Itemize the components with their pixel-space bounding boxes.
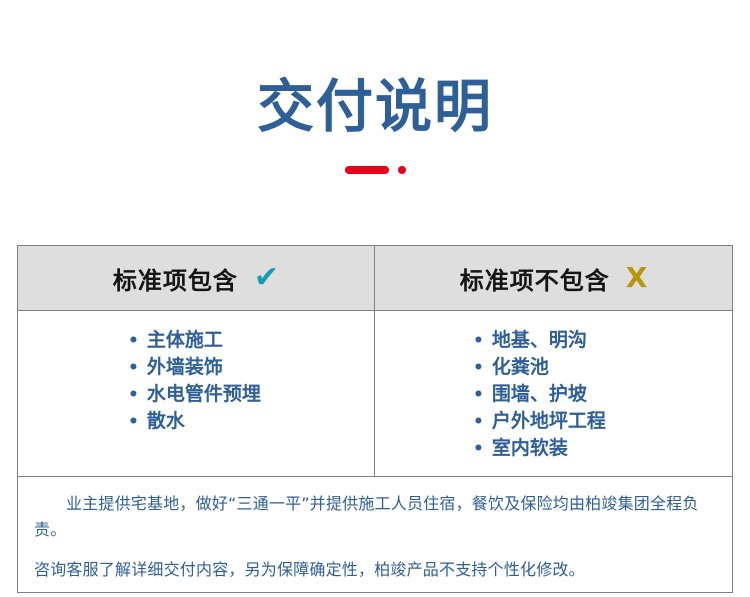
- delivery-spec-table: 标准项包含 ✔ • 主体施工 • 外墙装饰 • 水电管件预埋: [17, 245, 733, 593]
- bullet-icon: •: [473, 360, 484, 377]
- bullet-icon: •: [128, 387, 139, 404]
- column-excluded-header: 标准项不包含 X: [375, 246, 732, 311]
- column-included-header: 标准项包含 ✔: [18, 246, 374, 311]
- bullet-icon: •: [128, 333, 139, 350]
- column-included-header-label: 标准项包含: [113, 261, 238, 296]
- cross-mark-icon: X: [626, 264, 648, 292]
- bullet-icon: •: [473, 333, 484, 350]
- column-included-body: • 主体施工 • 外墙装饰 • 水电管件预埋 • 散水: [18, 311, 374, 477]
- list-item-label: 散水: [147, 408, 185, 435]
- check-mark-icon: ✔: [254, 263, 279, 293]
- list-item: • 户外地坪工程: [375, 408, 732, 435]
- bullet-icon: •: [473, 387, 484, 404]
- list-item-label: 户外地坪工程: [492, 408, 606, 435]
- list-item-label: 水电管件预埋: [147, 381, 261, 408]
- note-paragraph-2: 咨询客服了解详细交付内容，另为保障确定性，柏竣产品不支持个性化修改。: [34, 557, 716, 583]
- list-item-label: 围墙、护坡: [492, 381, 587, 408]
- column-included: 标准项包含 ✔ • 主体施工 • 外墙装饰 • 水电管件预埋: [18, 246, 375, 477]
- title-divider: [0, 164, 750, 176]
- list-item: • 主体施工: [18, 327, 374, 354]
- bullet-icon: •: [473, 441, 484, 458]
- list-item: • 化粪池: [375, 354, 732, 381]
- list-item-label: 外墙装饰: [147, 354, 223, 381]
- title-block: 交付说明: [0, 0, 750, 176]
- bullet-icon: •: [128, 414, 139, 431]
- divider-dot-icon: [398, 166, 406, 174]
- bullet-icon: •: [473, 414, 484, 431]
- list-item: • 围墙、护坡: [375, 381, 732, 408]
- excluded-item-list: • 地基、明沟 • 化粪池 • 围墙、护坡 • 户外地坪工程: [375, 327, 732, 462]
- list-item-label: 主体施工: [147, 327, 223, 354]
- table-columns-row: 标准项包含 ✔ • 主体施工 • 外墙装饰 • 水电管件预埋: [18, 246, 732, 477]
- list-item: • 散水: [18, 408, 374, 435]
- column-excluded-header-label: 标准项不包含: [460, 261, 610, 296]
- divider-bar-icon: [345, 166, 389, 174]
- included-item-list: • 主体施工 • 外墙装饰 • 水电管件预埋 • 散水: [18, 327, 374, 435]
- column-excluded-body: • 地基、明沟 • 化粪池 • 围墙、护坡 • 户外地坪工程: [375, 311, 732, 477]
- bullet-icon: •: [128, 360, 139, 377]
- list-item-label: 地基、明沟: [492, 327, 587, 354]
- list-item: • 外墙装饰: [18, 354, 374, 381]
- note-paragraph-1: 业主提供宅基地，做好“三通一平”并提供施工人员住宿，餐饮及保险均由柏竣集团全程负…: [34, 491, 716, 543]
- table-footer-note: 业主提供宅基地，做好“三通一平”并提供施工人员住宿，餐饮及保险均由柏竣集团全程负…: [18, 477, 732, 592]
- column-excluded: 标准项不包含 X • 地基、明沟 • 化粪池 • 围墙、护坡: [375, 246, 732, 477]
- list-item: • 地基、明沟: [375, 327, 732, 354]
- page-title: 交付说明: [0, 78, 750, 138]
- list-item-label: 室内软装: [492, 435, 568, 462]
- list-item: • 水电管件预埋: [18, 381, 374, 408]
- list-item: • 室内软装: [375, 435, 732, 462]
- list-item-label: 化粪池: [492, 354, 549, 381]
